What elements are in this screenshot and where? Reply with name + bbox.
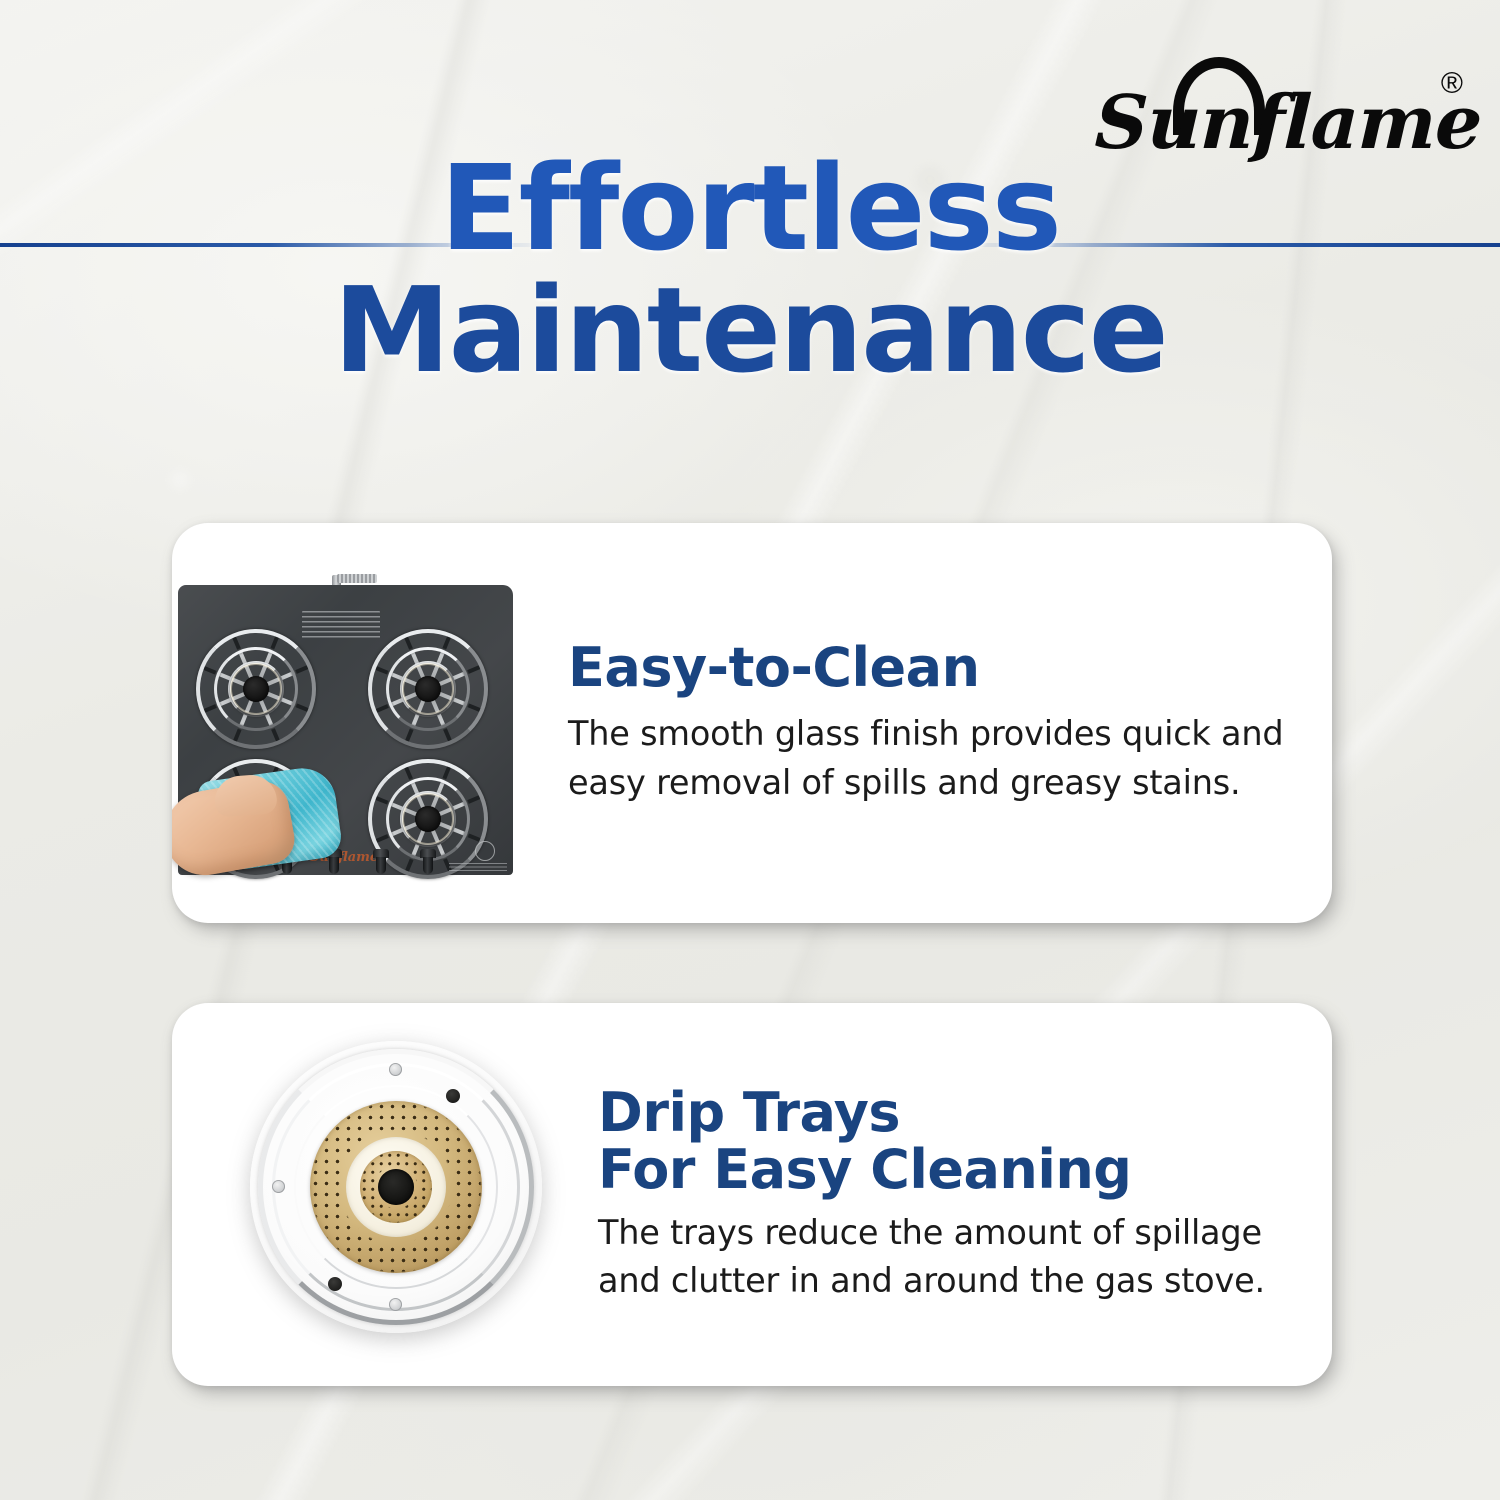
card-heading-easy-to-clean: Easy-to-Clean <box>568 639 1292 696</box>
card-heading-drip-trays: Drip Trays For Easy Cleaning <box>598 1084 1292 1198</box>
control-knob-4 <box>417 849 439 875</box>
tray-screw-top <box>389 1063 402 1076</box>
control-knob-3 <box>370 849 392 875</box>
gas-stove-illustration: Sunflame <box>178 573 513 883</box>
card-heading-drip-trays-line-1: Drip Trays <box>598 1084 1292 1141</box>
brand-logo: Sunflame ® <box>1095 55 1465 160</box>
card-heading-drip-trays-line-2: For Easy Cleaning <box>598 1141 1292 1198</box>
page-title: Effortless Maintenance <box>0 148 1500 391</box>
gas-stove-cleaning-image: Sunflame <box>172 523 532 923</box>
drip-tray-burner-image <box>172 1003 562 1386</box>
page-title-line-1: Effortless <box>0 148 1500 270</box>
tray-screw-left <box>272 1180 285 1193</box>
infographic-page: Sunflame ® Effortless Maintenance <box>0 0 1500 1500</box>
registered-trademark-icon: ® <box>1441 69 1463 99</box>
feature-card-drip-trays: Drip Trays For Easy Cleaning The trays r… <box>172 1003 1332 1386</box>
drip-tray-illustration <box>250 1041 542 1333</box>
burner-top-left <box>194 627 318 751</box>
page-title-line-2: Maintenance <box>0 270 1500 392</box>
stove-badge-caption <box>449 863 507 873</box>
tray-mount-dot-2 <box>328 1277 342 1291</box>
card-body-drip-trays: The trays reduce the amount of spillage … <box>598 1209 1292 1305</box>
burner-center-aperture <box>378 1169 414 1205</box>
feature-card-easy-to-clean: Sunflame Easy-to-Clean The smooth glass … <box>172 523 1332 923</box>
card-body-easy-to-clean: The smooth glass finish provides quick a… <box>568 710 1292 806</box>
feature-text-easy-to-clean: Easy-to-Clean The smooth glass finish pr… <box>532 639 1332 807</box>
stove-badge-icon <box>475 841 495 861</box>
tray-screw-bottom <box>389 1298 402 1311</box>
burner-top-right <box>366 627 490 751</box>
tray-mount-dot-1 <box>446 1089 460 1103</box>
feature-text-drip-trays: Drip Trays For Easy Cleaning The trays r… <box>562 1084 1332 1305</box>
